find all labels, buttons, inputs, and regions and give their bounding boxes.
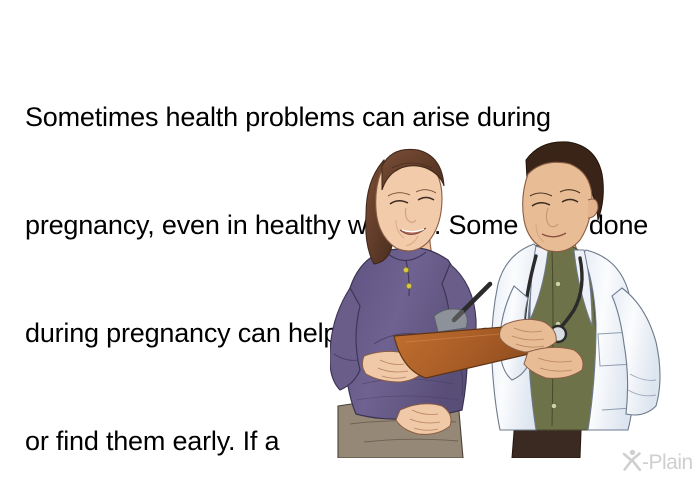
text-line: Sometimes health problems can arise duri…	[25, 99, 685, 135]
woman-top-button	[403, 267, 408, 272]
figure-doctor	[492, 142, 660, 458]
figure-pregnant-woman	[330, 149, 476, 458]
logo-figure-legs	[625, 460, 640, 470]
doctor-face	[523, 162, 592, 251]
x-plain-logo-text: -Plain	[642, 451, 693, 475]
logo-figure-head	[630, 450, 635, 455]
woman-top-button	[406, 283, 411, 288]
illustration-pregnant-woman-and-doctor	[330, 138, 680, 458]
doctor-ear	[588, 199, 598, 218]
doctor-shirt-button	[555, 281, 560, 286]
health-info-graphic: Sometimes health problems can arise duri…	[0, 0, 700, 480]
x-plain-logo: -Plain	[622, 448, 696, 478]
doctor-shirt-button	[551, 403, 556, 408]
woman-left-arm	[330, 288, 360, 390]
